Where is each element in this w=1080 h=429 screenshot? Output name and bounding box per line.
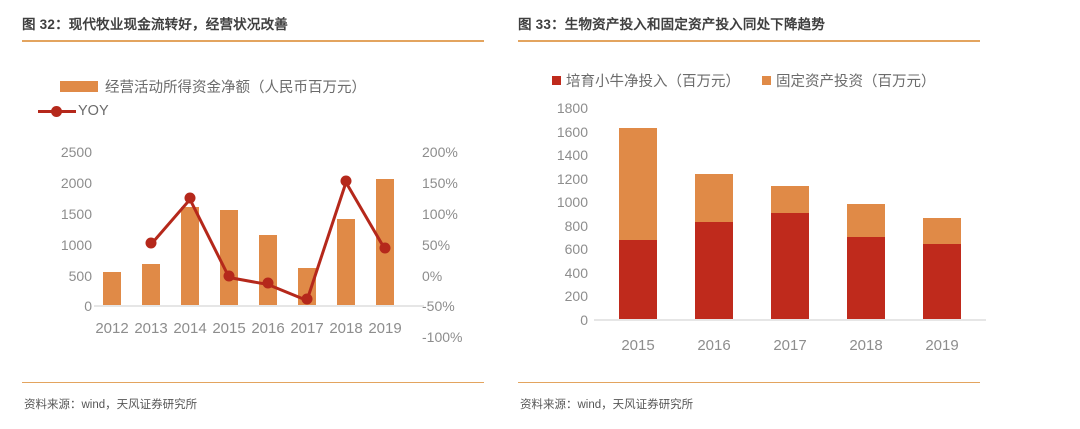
x-axis-label-2017: 2017 [773, 338, 806, 353]
y-axis-label-400: 400 [526, 266, 588, 280]
bar-calf-2017 [771, 213, 809, 319]
x-axis-baseline [94, 305, 424, 307]
y-axis-label-1400: 1400 [526, 148, 588, 162]
y-axis-label-1000: 1000 [30, 238, 92, 252]
y-axis-label-200: 200 [526, 289, 588, 303]
y2-axis-label-150: 150% [422, 176, 458, 190]
x-axis-label-2014: 2014 [173, 321, 206, 336]
x-axis-label-2012: 2012 [95, 321, 128, 336]
yoy-point-2013 [146, 238, 157, 249]
y-axis-label-0: 0 [30, 299, 92, 313]
y2-axis-label-neg100: -100% [422, 330, 462, 344]
figure-33-plot: 1800 1600 1400 1200 1000 800 600 400 200… [518, 0, 998, 345]
x-axis-label-2016: 2016 [251, 321, 284, 336]
x-axis-label-2018: 2018 [849, 338, 882, 353]
y-axis-label-1200: 1200 [526, 172, 588, 186]
figure-33-footer-rule [518, 382, 980, 383]
y-axis-label-0: 0 [526, 313, 588, 327]
y-axis-label-2000: 2000 [30, 176, 92, 190]
bar-calf-2018 [847, 237, 885, 319]
bar-2012 [103, 272, 121, 305]
y-axis-label-1800: 1800 [526, 101, 588, 115]
y-axis-label-800: 800 [526, 219, 588, 233]
yoy-point-2016 [263, 278, 274, 289]
x-axis-label-2017: 2017 [290, 321, 323, 336]
y2-axis-label-neg50: -50% [422, 299, 455, 313]
y-axis-label-2500: 2500 [30, 145, 92, 159]
figure-32-plot: 2500 2000 1500 1000 500 0 200% 150% 100%… [22, 0, 492, 340]
figure-panel-33: 图 33：生物资产投入和固定资产投入同处下降趋势 培育小牛净投入（百万元） 固定… [518, 0, 1018, 429]
x-axis-label-2018: 2018 [329, 321, 362, 336]
y-axis-label-1600: 1600 [526, 125, 588, 139]
y2-axis-label-200: 200% [422, 145, 458, 159]
y-axis-label-1500: 1500 [30, 207, 92, 221]
x-axis-label-2015: 2015 [621, 338, 654, 353]
x-axis-baseline [594, 319, 986, 321]
x-axis-label-2016: 2016 [697, 338, 730, 353]
figure-33-source: 资料来源：wind，天风证券研究所 [520, 396, 693, 412]
y-axis-label-600: 600 [526, 242, 588, 256]
bar-calf-2016 [695, 222, 733, 319]
bar-fixed-2015 [619, 128, 657, 240]
figure-32-source: 资料来源：wind，天风证券研究所 [24, 396, 197, 412]
bar-fixed-2018 [847, 204, 885, 237]
bar-calf-2015 [619, 240, 657, 319]
x-axis-label-2013: 2013 [134, 321, 167, 336]
yoy-point-2017 [302, 294, 313, 305]
x-axis-label-2015: 2015 [212, 321, 245, 336]
bar-fixed-2019 [923, 218, 961, 244]
yoy-point-2019 [380, 243, 391, 254]
yoy-point-2015 [224, 271, 235, 282]
y2-axis-label-0: 0% [422, 269, 442, 283]
report-figures-page: 图 32：现代牧业现金流转好，经营状况改善 经营活动所得资金净额（人民币百万元）… [0, 0, 1080, 429]
y-axis-label-500: 500 [30, 269, 92, 283]
yoy-point-2018 [341, 176, 352, 187]
bar-2016 [259, 235, 277, 305]
x-axis-label-2019: 2019 [368, 321, 401, 336]
x-axis-label-2019: 2019 [925, 338, 958, 353]
figure-panel-32: 图 32：现代牧业现金流转好，经营状况改善 经营活动所得资金净额（人民币百万元）… [22, 0, 522, 429]
bar-2015 [220, 210, 238, 305]
y2-axis-label-100: 100% [422, 207, 458, 221]
bar-fixed-2017 [771, 186, 809, 213]
y2-axis-label-50: 50% [422, 238, 450, 252]
bar-2014 [181, 207, 199, 305]
bar-calf-2019 [923, 244, 961, 319]
bar-2013 [142, 264, 160, 305]
figure-32-footer-rule [22, 382, 484, 383]
y-axis-label-1000: 1000 [526, 195, 588, 209]
bar-2018 [337, 219, 355, 305]
bar-fixed-2016 [695, 174, 733, 222]
yoy-point-2014 [185, 193, 196, 204]
